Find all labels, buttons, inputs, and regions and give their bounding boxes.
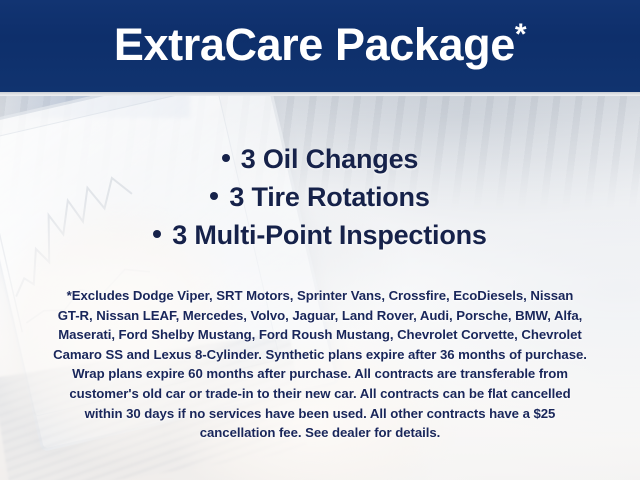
benefit-item-oil-changes: 3 Oil Changes — [0, 140, 640, 178]
benefit-item-label: 3 Oil Changes — [241, 144, 418, 174]
disclaimer-line: *Excludes Dodge Viper, SRT Motors, Sprin… — [28, 286, 612, 306]
benefit-item-label: 3 Tire Rotations — [229, 182, 429, 212]
page-title: ExtraCare Package* — [0, 16, 640, 74]
disclaimer-line: Wrap plans expire 60 months after purcha… — [28, 364, 612, 384]
bullet-dot-icon — [222, 154, 230, 162]
disclaimer-line: within 30 days if no services have been … — [28, 404, 612, 424]
disclaimer-line: GT-R, Nissan LEAF, Mercedes, Volvo, Jagu… — [28, 306, 612, 326]
disclaimer-line: cancellation fee. See dealer for details… — [28, 423, 612, 443]
benefit-item-multi-point-inspections: 3 Multi-Point Inspections — [0, 216, 640, 254]
header-divider-rule — [0, 92, 640, 96]
bullet-dot-icon — [153, 230, 161, 238]
page-title-text: ExtraCare Package — [114, 19, 515, 70]
extracare-package-promo-card: ExtraCare Package* 3 Oil Changes 3 Tire … — [0, 0, 640, 480]
page-title-footnote-marker: * — [515, 18, 526, 51]
disclaimer-line: Maserati, Ford Shelby Mustang, Ford Rous… — [28, 325, 612, 345]
disclaimer-line: Camaro SS and Lexus 8-Cylinder. Syntheti… — [28, 345, 612, 365]
header-band: ExtraCare Package* — [0, 0, 640, 92]
benefit-item-label: 3 Multi-Point Inspections — [172, 220, 487, 250]
benefit-item-tire-rotations: 3 Tire Rotations — [0, 178, 640, 216]
benefits-list: 3 Oil Changes 3 Tire Rotations 3 Multi-P… — [0, 140, 640, 254]
disclaimer-text: *Excludes Dodge Viper, SRT Motors, Sprin… — [28, 286, 612, 443]
disclaimer-line: customer's old car or trade-in to their … — [28, 384, 612, 404]
bullet-dot-icon — [210, 192, 218, 200]
